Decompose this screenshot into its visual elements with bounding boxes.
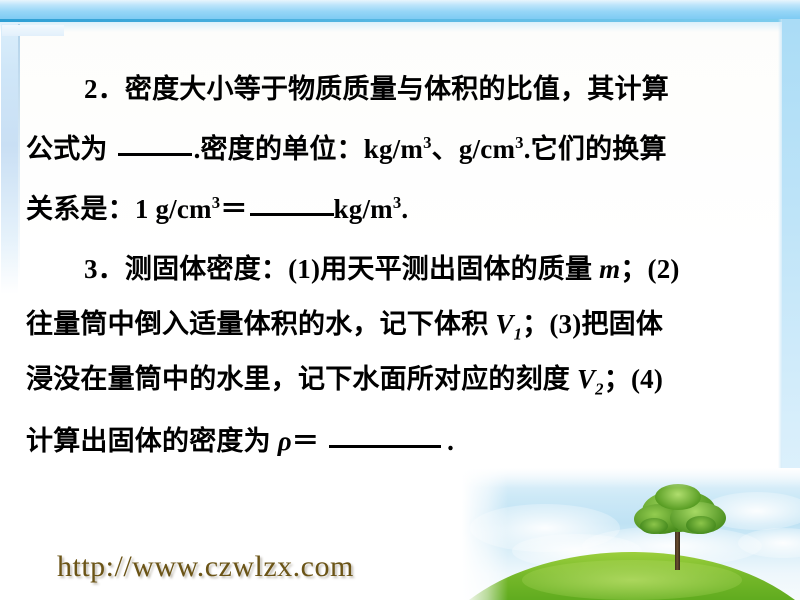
item3-step2-tail: ；(3)把固体	[522, 309, 663, 339]
variable-v2: V2	[577, 364, 604, 394]
item2-line1-text: 密度大小等于物质质量与体积的比值，其计算	[125, 74, 669, 104]
item2-line2-tail: .它们的换算	[524, 134, 667, 164]
period: .	[447, 426, 454, 456]
item3-step1-tail: ；(2)	[620, 254, 679, 284]
variable-rho: ρ	[278, 426, 292, 456]
item3-line4: 计算出固体的密度为 ρ＝.	[26, 414, 454, 469]
item2-line1: 2．密度大小等于物质质量与体积的比值，其计算	[26, 62, 669, 117]
item3-step4-text: 计算出固体的密度为	[26, 426, 278, 456]
item2-number: 2．	[84, 74, 125, 104]
period: .	[401, 194, 408, 224]
top-decorative-band	[0, 0, 800, 19]
item3-line2: 往量筒中倒入适量体积的水，记下体积 V1；(3)把固体	[26, 297, 663, 352]
density-result-blank[interactable]	[329, 445, 441, 448]
tree-canopy	[640, 518, 668, 534]
top-haze-gradient	[0, 22, 800, 32]
slide-canvas: 2．密度大小等于物质质量与体积的比值，其计算 公式为.密度的单位：kg/m3、g…	[0, 0, 800, 600]
equals-sign: ＝	[220, 194, 247, 224]
subscript: 1	[514, 324, 523, 343]
landscape-photo	[462, 468, 800, 600]
conversion-left-value: 1 g/cm3	[135, 194, 221, 224]
item3-step2-text: 往量筒中倒入适量体积的水，记下体积	[26, 309, 495, 339]
footer-url[interactable]: http://www.czwlzx.com	[57, 550, 354, 584]
item2-units-label: .密度的单位：	[194, 134, 364, 164]
item3-line3: 浸没在量筒中的水里，记下水面所对应的刻度 V2；(4)	[26, 352, 663, 407]
photo-top-fade	[462, 468, 800, 488]
item2-formula-label: 公式为	[26, 134, 108, 164]
item3-number: 3．	[84, 254, 125, 284]
left-decorative-band	[1, 24, 18, 294]
exponent: 3	[423, 133, 432, 152]
item2-line3: 关系是：1 g/cm3＝kg/m3.	[26, 182, 408, 237]
item3-step3-tail: ；(4)	[604, 364, 663, 394]
conversion-right-unit: kg/m3	[334, 194, 402, 224]
variable-v1: V1	[495, 309, 522, 339]
item2-line2: 公式为.密度的单位：kg/m3、g/cm3.它们的换算	[26, 122, 667, 177]
left-band-edge	[18, 24, 20, 282]
unit-separator: 、	[432, 134, 459, 164]
left-tab-highlight	[2, 25, 64, 36]
variable-m: m	[599, 254, 620, 284]
formula-blank[interactable]	[118, 153, 192, 156]
subscript: 2	[595, 379, 604, 398]
exponent: 3	[515, 133, 524, 152]
hill-highlight	[522, 560, 742, 600]
item2-relation-label: 关系是：	[26, 194, 135, 224]
item3-step3-text: 浸没在量筒中的水里，记下水面所对应的刻度	[26, 364, 577, 394]
unit-kg-per-m3: kg/m3	[364, 134, 432, 164]
conversion-blank[interactable]	[250, 213, 334, 216]
unit-g-per-cm3: g/cm3	[459, 134, 524, 164]
item3-line1: 3．测固体密度：(1)用天平测出固体的质量 m；(2)	[26, 242, 680, 297]
tree-canopy	[686, 516, 716, 534]
item3-step1-text: 测固体密度：(1)用天平测出固体的质量	[125, 254, 599, 284]
equals-sign: ＝	[292, 426, 319, 456]
